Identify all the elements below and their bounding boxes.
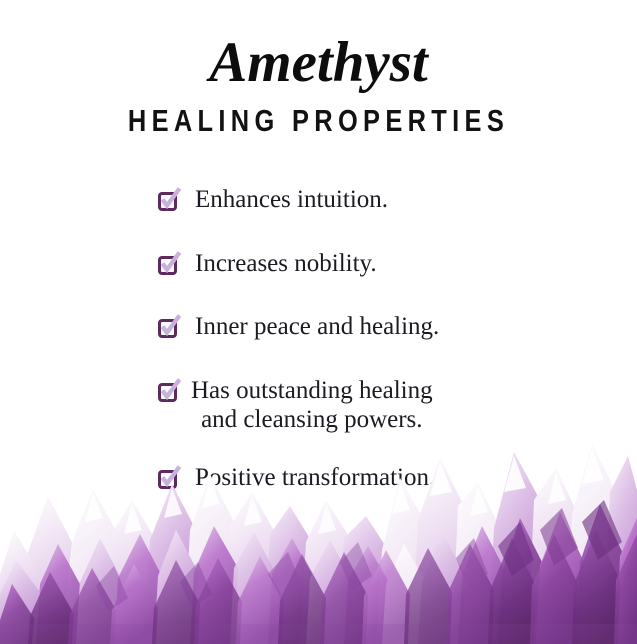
- checked-checkbox-icon: [158, 256, 177, 275]
- amethyst-crystal-image: [0, 434, 637, 644]
- list-item: Enhances intuition.: [158, 185, 578, 215]
- page-title: Amethyst: [0, 34, 637, 91]
- page-subtitle: HEALING PROPERTIES: [57, 91, 579, 136]
- checked-checkbox-icon: [158, 383, 177, 402]
- checkmark-icon: [157, 251, 183, 277]
- list-item: Inner peace and healing.: [158, 312, 578, 342]
- checked-checkbox-icon: [158, 192, 177, 211]
- list-item-label: Increases nobility.: [195, 249, 377, 279]
- checkmark-icon: [157, 314, 183, 340]
- checkmark-icon: [157, 187, 183, 213]
- list-item-label: Inner peace and healing.: [195, 312, 439, 342]
- list-item-label: Has outstanding healing and cleansing po…: [191, 376, 433, 435]
- list-item: Increases nobility.: [158, 249, 578, 279]
- list-item-label: Enhances intuition.: [195, 185, 388, 215]
- checked-checkbox-icon: [158, 319, 177, 338]
- crystal-cluster-illustration: [0, 434, 637, 644]
- checkmark-icon: [157, 378, 183, 404]
- poster-header: Amethyst HEALING PROPERTIES: [0, 0, 637, 136]
- list-item: Has outstanding healing and cleansing po…: [158, 376, 578, 435]
- amethyst-healing-properties-poster: Amethyst HEALING PROPERTIES Enhances int…: [0, 0, 637, 644]
